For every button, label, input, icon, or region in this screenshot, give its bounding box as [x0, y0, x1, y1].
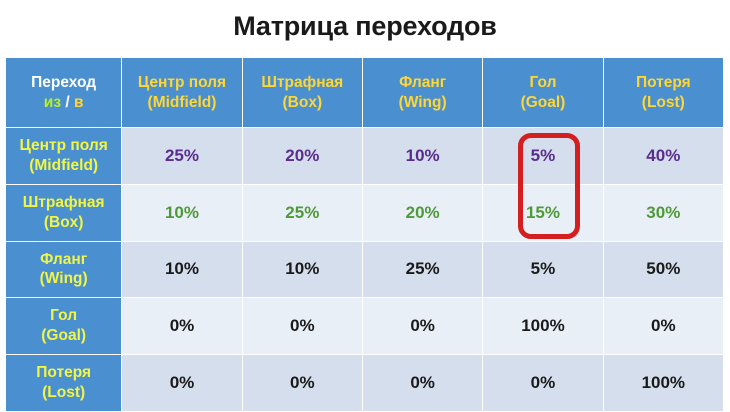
page-title: Матрица переходов [0, 0, 730, 40]
row-header-wing: Фланг (Wing) [6, 241, 122, 298]
table-row: Фланг (Wing) 10% 10% 25% 5% 50% [6, 241, 724, 298]
column-header-wing-en: (Wing) [363, 93, 482, 113]
cell-wing-lost: 50% [603, 241, 723, 298]
corner-slash: / [65, 94, 69, 111]
table-row: Гол (Goal) 0% 0% 0% 100% 0% [6, 298, 724, 355]
row-header-goal-en: (Goal) [6, 326, 121, 346]
cell-lost-midfield: 0% [122, 355, 242, 412]
column-header-goal-en: (Goal) [483, 93, 602, 113]
cell-box-wing: 20% [362, 184, 482, 241]
cell-midfield-goal: 5% [483, 128, 603, 185]
column-header-midfield: Центр поля (Midfield) [122, 58, 242, 128]
row-header-box: Штрафная (Box) [6, 184, 122, 241]
column-header-wing: Фланг (Wing) [362, 58, 482, 128]
cell-wing-midfield: 10% [122, 241, 242, 298]
corner-axes: из / в [6, 93, 121, 113]
row-header-lost-en: (Lost) [6, 383, 121, 403]
cell-wing-wing: 25% [362, 241, 482, 298]
column-header-midfield-ru: Центр поля [122, 73, 241, 93]
column-header-goal-ru: Гол [483, 73, 602, 93]
transition-matrix-table: Переход из / в Центр поля (Midfield) Штр… [5, 57, 724, 412]
row-header-lost-ru: Потеря [6, 363, 121, 383]
cell-wing-goal: 5% [483, 241, 603, 298]
cell-midfield-wing: 10% [362, 128, 482, 185]
row-header-goal: Гол (Goal) [6, 298, 122, 355]
corner-header-cell: Переход из / в [6, 58, 122, 128]
table-row: Штрафная (Box) 10% 25% 20% 15% 30% [6, 184, 724, 241]
cell-box-goal: 15% [483, 184, 603, 241]
row-header-midfield-ru: Центр поля [6, 136, 121, 156]
table-header-row: Переход из / в Центр поля (Midfield) Штр… [6, 58, 724, 128]
row-header-midfield-en: (Midfield) [6, 156, 121, 176]
table-row: Потеря (Lost) 0% 0% 0% 0% 100% [6, 355, 724, 412]
table-row: Центр поля (Midfield) 25% 20% 10% 5% 40% [6, 128, 724, 185]
column-header-lost: Потеря (Lost) [603, 58, 723, 128]
transition-matrix-container: Переход из / в Центр поля (Midfield) Штр… [5, 57, 724, 411]
cell-midfield-midfield: 25% [122, 128, 242, 185]
corner-title: Переход [6, 73, 121, 93]
column-header-goal: Гол (Goal) [483, 58, 603, 128]
cell-midfield-lost: 40% [603, 128, 723, 185]
cell-box-box: 25% [242, 184, 362, 241]
row-header-wing-ru: Фланг [6, 250, 121, 270]
cell-goal-goal: 100% [483, 298, 603, 355]
cell-box-lost: 30% [603, 184, 723, 241]
cell-lost-wing: 0% [362, 355, 482, 412]
column-header-midfield-en: (Midfield) [122, 93, 241, 113]
row-header-box-ru: Штрафная [6, 193, 121, 213]
row-header-wing-en: (Wing) [6, 269, 121, 289]
cell-goal-lost: 0% [603, 298, 723, 355]
cell-lost-goal: 0% [483, 355, 603, 412]
cell-lost-lost: 100% [603, 355, 723, 412]
cell-goal-midfield: 0% [122, 298, 242, 355]
cell-wing-box: 10% [242, 241, 362, 298]
cell-lost-box: 0% [242, 355, 362, 412]
row-header-midfield: Центр поля (Midfield) [6, 128, 122, 185]
row-header-box-en: (Box) [6, 213, 121, 233]
cell-goal-wing: 0% [362, 298, 482, 355]
corner-to-label: в [74, 94, 84, 111]
column-header-wing-ru: Фланг [363, 73, 482, 93]
column-header-lost-ru: Потеря [604, 73, 723, 93]
corner-from-label: из [44, 94, 61, 111]
row-header-lost: Потеря (Lost) [6, 355, 122, 412]
row-header-goal-ru: Гол [6, 306, 121, 326]
column-header-box: Штрафная (Box) [242, 58, 362, 128]
cell-box-midfield: 10% [122, 184, 242, 241]
column-header-lost-en: (Lost) [604, 93, 723, 113]
column-header-box-en: (Box) [243, 93, 362, 113]
cell-midfield-box: 20% [242, 128, 362, 185]
cell-goal-box: 0% [242, 298, 362, 355]
column-header-box-ru: Штрафная [243, 73, 362, 93]
